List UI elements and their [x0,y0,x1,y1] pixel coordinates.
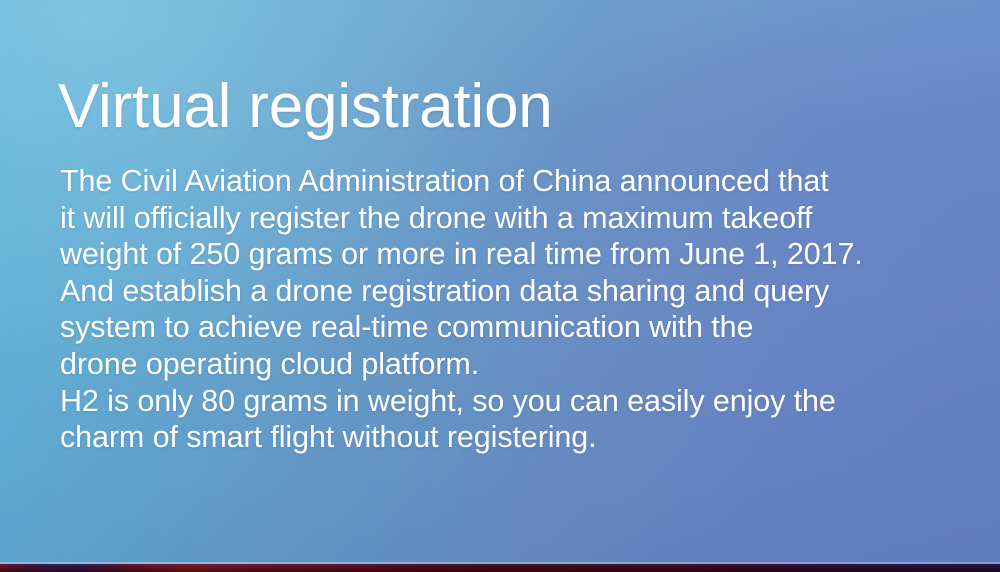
slide-body-text: The Civil Aviation Administration of Chi… [60,163,980,456]
body-line: it will officially register the drone wi… [60,200,980,237]
body-line: And establish a drone registration data … [60,273,980,310]
body-line: system to achieve real-time communicatio… [60,309,980,346]
body-line: drone operating cloud platform. [60,346,980,383]
body-line: charm of smart flight without registerin… [60,419,980,456]
body-line: H2 is only 80 grams in weight, so you ca… [60,383,980,420]
slide-title: Virtual registration [58,72,553,141]
body-line: The Civil Aviation Administration of Chi… [60,163,980,200]
presentation-slide: Virtual registration The Civil Aviation … [0,0,1000,572]
bottom-accent-bar [0,564,1000,572]
body-line: weight of 250 grams or more in real time… [60,236,980,273]
